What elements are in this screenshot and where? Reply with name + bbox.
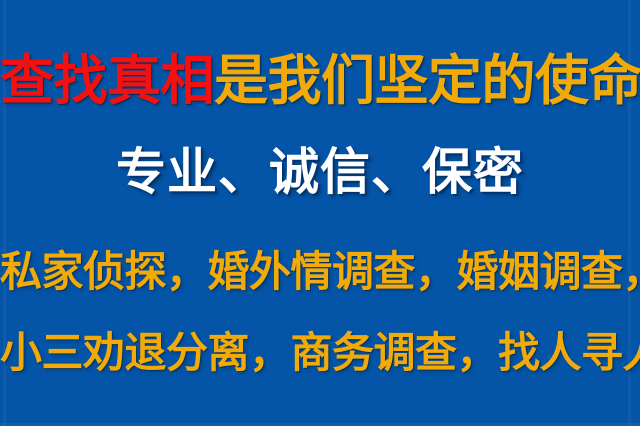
service-list-line-2: 小三劝退分离，商务调查，找人寻人: [0, 332, 640, 374]
headline-emphasis-text: 查找真相: [0, 49, 214, 112]
headline: 查找真相是我们坚定的使命: [0, 54, 640, 108]
headline-rest-text: 是我们坚定的使命: [214, 49, 640, 112]
values-tagline: 专业、诚信、保密: [0, 147, 640, 197]
service-list-line-1: 私家侦探，婚外情调查，婚姻调查，: [0, 251, 640, 293]
advertisement-banner: 查找真相是我们坚定的使命 专业、诚信、保密 私家侦探，婚外情调查，婚姻调查， 小…: [0, 0, 640, 426]
